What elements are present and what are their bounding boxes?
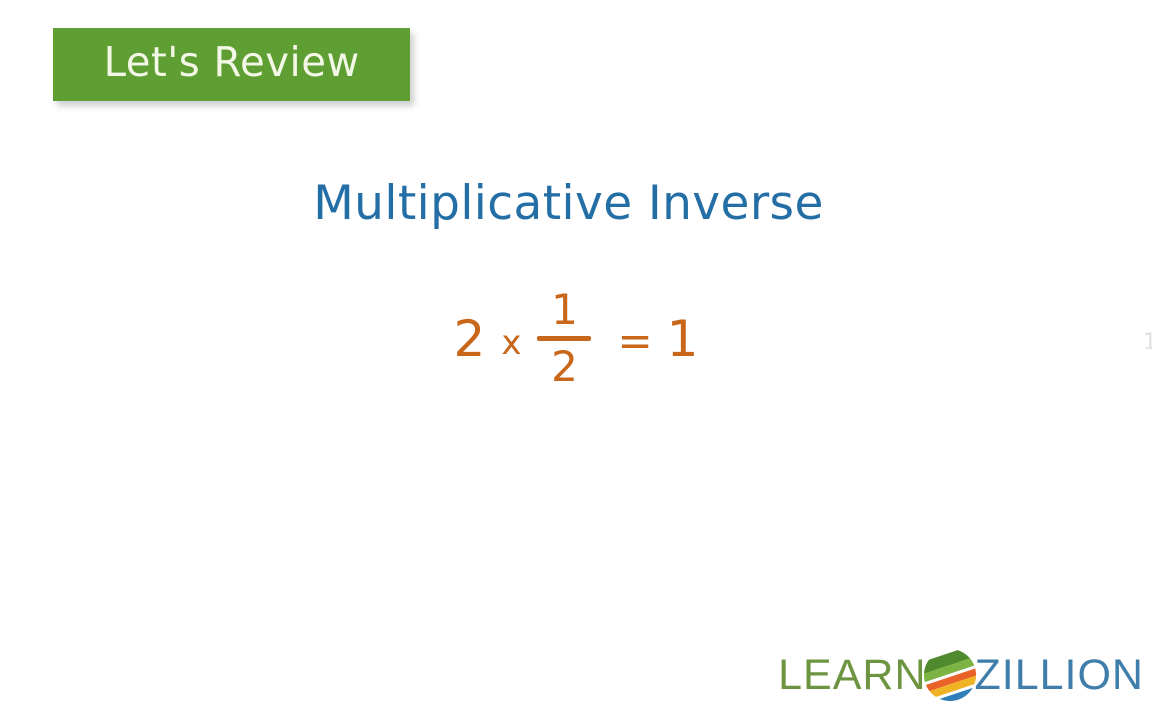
slide-canvas: Let's Review Multiplicative Inverse 2 x … (0, 0, 1152, 720)
fraction-denominator: 2 (551, 345, 578, 389)
equation-result: 1 (667, 314, 699, 364)
globe-icon (919, 644, 981, 706)
right-edge-artifact: 1 (1143, 330, 1152, 356)
lesson-title-text: Multiplicative Inverse (313, 178, 824, 230)
fraction-one-half: 1 2 (537, 288, 591, 389)
equals-sign: = (617, 320, 652, 362)
fraction-bar (537, 336, 591, 341)
multiplication-sign: x (501, 326, 521, 360)
equation: 2 x 1 2 = 1 (0, 288, 1152, 389)
lets-review-banner: Let's Review (53, 28, 410, 101)
lets-review-label: Let's Review (103, 42, 359, 88)
logo-word-zillion: ZILLION (975, 654, 1145, 697)
fraction-numerator: 1 (551, 288, 578, 332)
lesson-title: Multiplicative Inverse (0, 178, 1152, 230)
equation-left-factor: 2 (454, 314, 486, 364)
learnzillion-logo: LEARN (778, 644, 1144, 706)
logo-word-learn: LEARN (778, 654, 926, 697)
